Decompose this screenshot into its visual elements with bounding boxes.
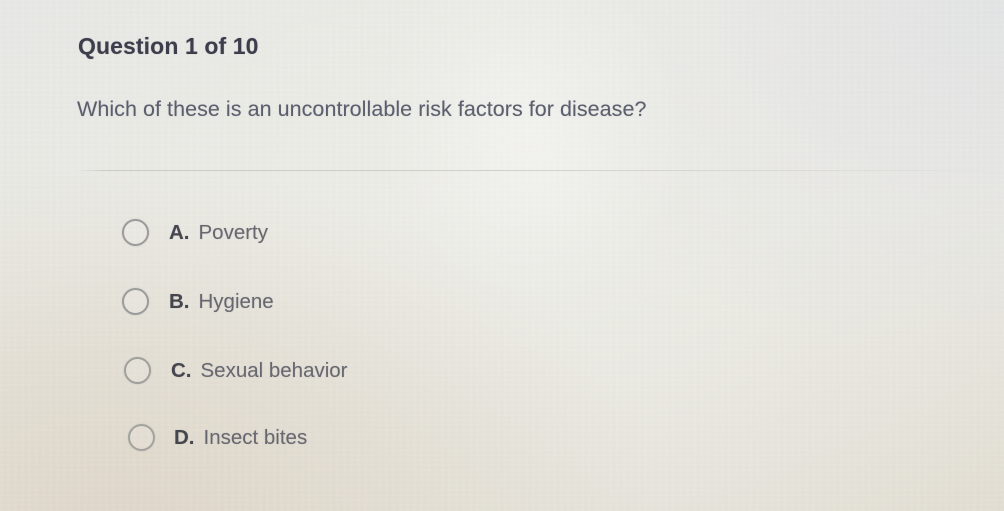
option-label-a: Poverty [199, 221, 269, 245]
question-counter: Question 1 of 10 [78, 33, 259, 60]
radio-button-icon-c[interactable] [124, 357, 151, 384]
answer-option-c[interactable]: C. Sexual behavior [124, 357, 348, 384]
radio-button-icon-b[interactable] [122, 288, 149, 315]
answer-option-a[interactable]: A. Poverty [122, 219, 268, 246]
photo-glare [358, 0, 702, 319]
header-divider [76, 170, 994, 171]
radio-button-icon-a[interactable] [122, 219, 149, 246]
option-label-c: Sexual behavior [201, 359, 348, 383]
option-letter-b: B. [169, 290, 190, 314]
option-letter-a: A. [169, 221, 190, 245]
question-text: Which of these is an uncontrollable risk… [77, 97, 647, 122]
option-letter-d: D. [174, 426, 195, 450]
answer-option-b[interactable]: B. Hygiene [122, 288, 274, 315]
option-letter-c: C. [171, 359, 192, 383]
answer-option-d[interactable]: D. Insect bites [128, 424, 307, 451]
option-label-b: Hygiene [199, 290, 274, 314]
radio-button-icon-d[interactable] [128, 424, 155, 451]
quiz-page: Question 1 of 10 Which of these is an un… [0, 0, 1004, 511]
option-label-d: Insect bites [204, 426, 308, 450]
